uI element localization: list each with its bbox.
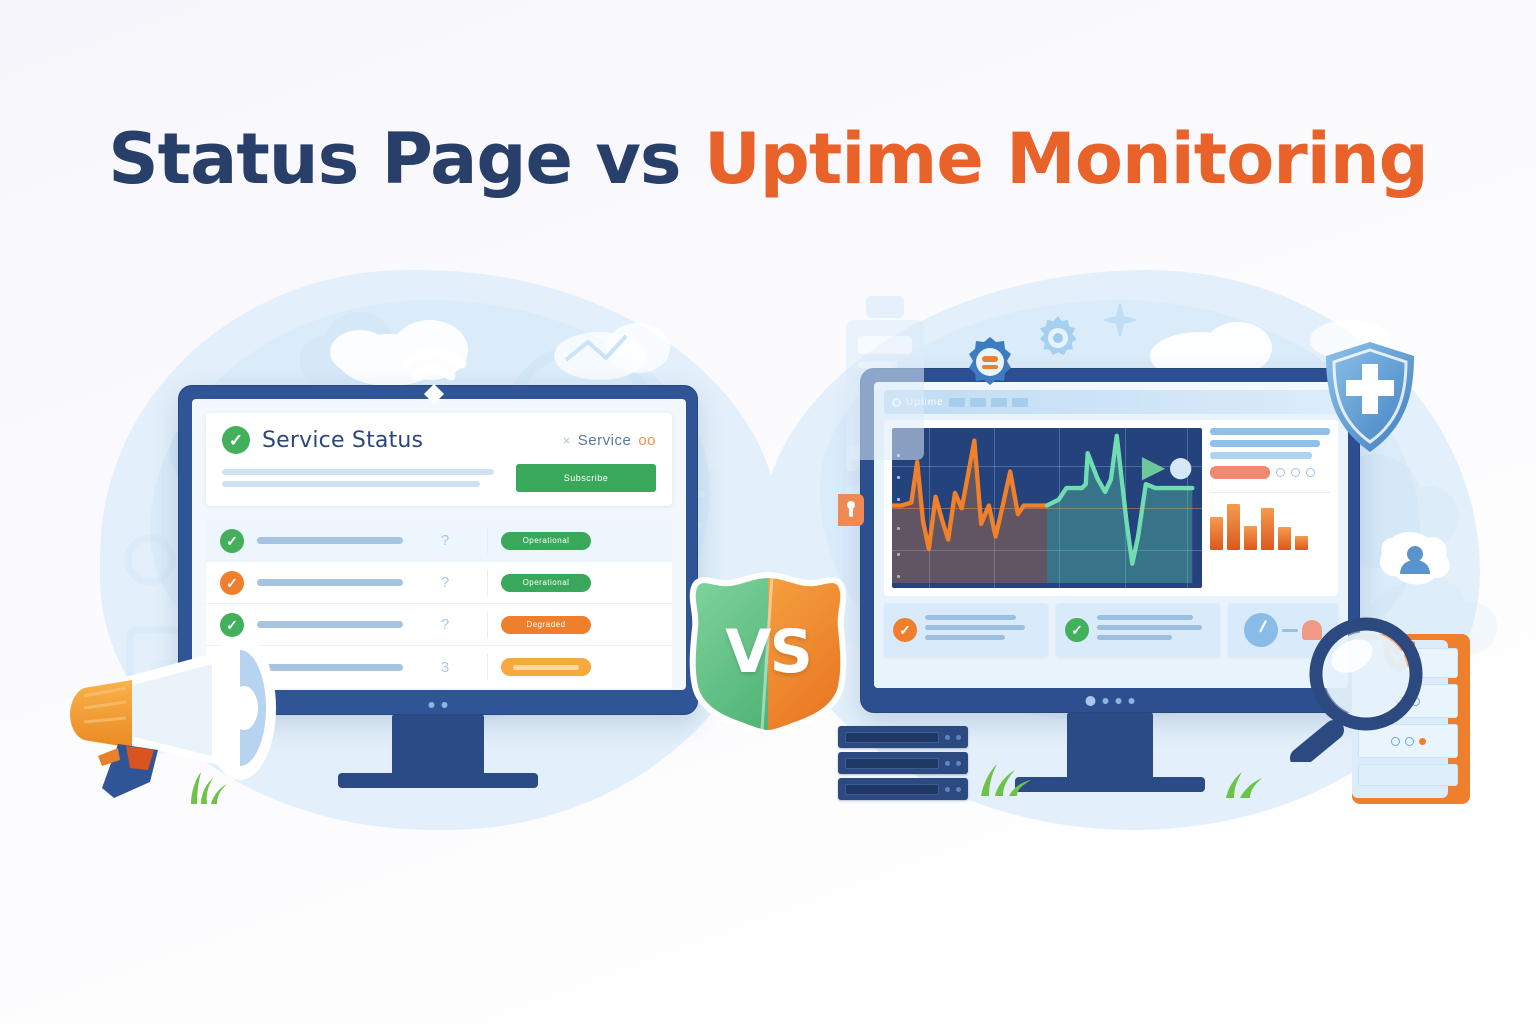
gear-icon: [1030, 310, 1086, 366]
subscribe-button[interactable]: Subscribe: [516, 464, 656, 492]
bar: [1261, 508, 1274, 550]
uptime-monitoring-monitor: Uptime: [860, 368, 1360, 713]
row-divider: [487, 654, 488, 680]
server-slot: [845, 784, 939, 795]
title-part-status-page: Status Page: [108, 118, 572, 200]
row-value: ?: [416, 532, 474, 549]
dashboard-topbar: Uptime: [884, 390, 1338, 414]
circle-icon: [1306, 468, 1315, 477]
vs-label: VS: [688, 572, 848, 732]
server-led: [956, 787, 961, 792]
page-title: Status Page vs Uptime Monitoring: [0, 118, 1536, 200]
service-name-placeholder: [257, 621, 403, 628]
row-divider: [487, 528, 488, 554]
dashboard-side-panel: [1210, 428, 1330, 588]
title-part-uptime-monitoring: Uptime Monitoring: [704, 118, 1428, 200]
illustration-canvas: Status Page vs Uptime Monitoring ✓ Servi…: [0, 0, 1536, 1024]
dashboard-body: Uptime: [874, 390, 1348, 688]
side-panel-line: [1210, 452, 1312, 459]
service-brand-label: × Service oo: [563, 432, 656, 449]
bar: [1210, 517, 1223, 550]
grass-decoration: [1222, 768, 1272, 798]
placeholder-line: [222, 481, 480, 487]
dashboard-status-cards: ✓ ✓: [884, 603, 1338, 657]
bar: [1244, 526, 1257, 550]
uptime-dashboard-screen: Uptime: [874, 382, 1348, 688]
server-rack-icon: [838, 726, 968, 806]
close-icon: ×: [563, 433, 571, 448]
doc-row[interactable]: [1358, 764, 1458, 786]
brand-suffix: oo: [638, 432, 656, 449]
gauge-icon: [1244, 613, 1278, 647]
bar: [1227, 504, 1240, 550]
check-circle-icon: ✓: [893, 618, 917, 642]
service-status-subheader: Subscribe: [222, 464, 656, 492]
row-value: ?: [416, 574, 474, 591]
table-row[interactable]: ✓ ? Operational: [206, 562, 672, 604]
bar: [1278, 527, 1291, 550]
alert-chip: [1210, 466, 1270, 479]
service-name-placeholder: [257, 579, 403, 586]
side-panel-line: [1210, 428, 1330, 435]
chart-svg: [892, 428, 1202, 583]
status-badge: [501, 658, 591, 676]
table-row[interactable]: ✓ ? Operational: [206, 520, 672, 562]
server-led: [945, 787, 950, 792]
sparkle-icon: [1100, 300, 1140, 340]
topbar-segment: [991, 398, 1007, 407]
status-badge: Operational: [501, 532, 591, 550]
check-circle-icon: ✓: [220, 529, 244, 553]
grass-decoration: [185, 770, 231, 804]
row-divider: [487, 612, 488, 638]
monitor-stand-neck-right: [1067, 713, 1153, 781]
server-unit: [838, 752, 968, 774]
person-avatar-icon: [1378, 530, 1452, 592]
server-led: [945, 735, 950, 740]
lock-tab-icon: [838, 490, 864, 530]
server-led: [956, 761, 961, 766]
row-value: 3: [416, 659, 474, 676]
monitor-stand-base-right: [1015, 777, 1205, 792]
server-slot: [845, 758, 939, 769]
monitor-stand-base-left: [338, 773, 538, 788]
check-circle-icon: ✓: [220, 571, 244, 595]
vs-badge: VS: [688, 572, 848, 732]
service-status-card: ✓ Service Status × Service oo: [206, 413, 672, 506]
wifi-icon: [396, 338, 472, 404]
check-circle-icon: ✓: [1065, 618, 1089, 642]
bar: [1295, 536, 1308, 550]
grass-decoration: [975, 760, 1035, 796]
card-lines: [1097, 615, 1211, 645]
certification-badge-icon: [962, 334, 1018, 390]
row-value: ?: [416, 616, 474, 633]
topbar-segment: [1012, 398, 1028, 407]
status-card-warning[interactable]: ✓: [884, 603, 1048, 657]
brand-text: Service: [578, 432, 632, 449]
circle-icon: [1276, 468, 1285, 477]
monitor-stand-neck-left: [392, 715, 484, 777]
magnifying-glass-icon: [1288, 612, 1428, 762]
status-card-ok[interactable]: ✓: [1056, 603, 1220, 657]
placeholder-lines: [222, 469, 502, 487]
title-connector: vs: [572, 118, 704, 200]
circle-icon: [1291, 468, 1300, 477]
topbar-segment: [970, 398, 986, 407]
service-name-placeholder: [257, 537, 403, 544]
service-status-title: Service Status: [262, 428, 423, 453]
service-status-header: ✓ Service Status × Service oo: [222, 426, 656, 454]
pc-tower-decoration: [842, 296, 928, 466]
server-unit: [838, 778, 968, 800]
status-badge: Degraded: [501, 616, 591, 634]
card-lines: [925, 615, 1039, 645]
mini-bar-chart: [1210, 492, 1330, 550]
row-divider: [487, 570, 488, 596]
server-slot: [845, 732, 939, 743]
server-led: [945, 761, 950, 766]
dashboard-main-panel: [884, 420, 1338, 596]
topbar-segment: [949, 398, 965, 407]
placeholder-line: [222, 469, 494, 475]
monitor-bezel-right: Uptime: [860, 368, 1360, 713]
monitor-indicator-dots-right: [1086, 696, 1135, 706]
server-unit: [838, 726, 968, 748]
side-panel-chip-row: [1210, 466, 1330, 479]
shield-plus-icon: [1322, 340, 1418, 455]
status-badge: Operational: [501, 574, 591, 592]
server-led: [956, 735, 961, 740]
side-panel-line: [1210, 440, 1320, 447]
check-circle-icon: ✓: [222, 426, 250, 454]
monitor-indicator-dots-left: [429, 702, 448, 708]
response-time-chart: [892, 428, 1202, 588]
